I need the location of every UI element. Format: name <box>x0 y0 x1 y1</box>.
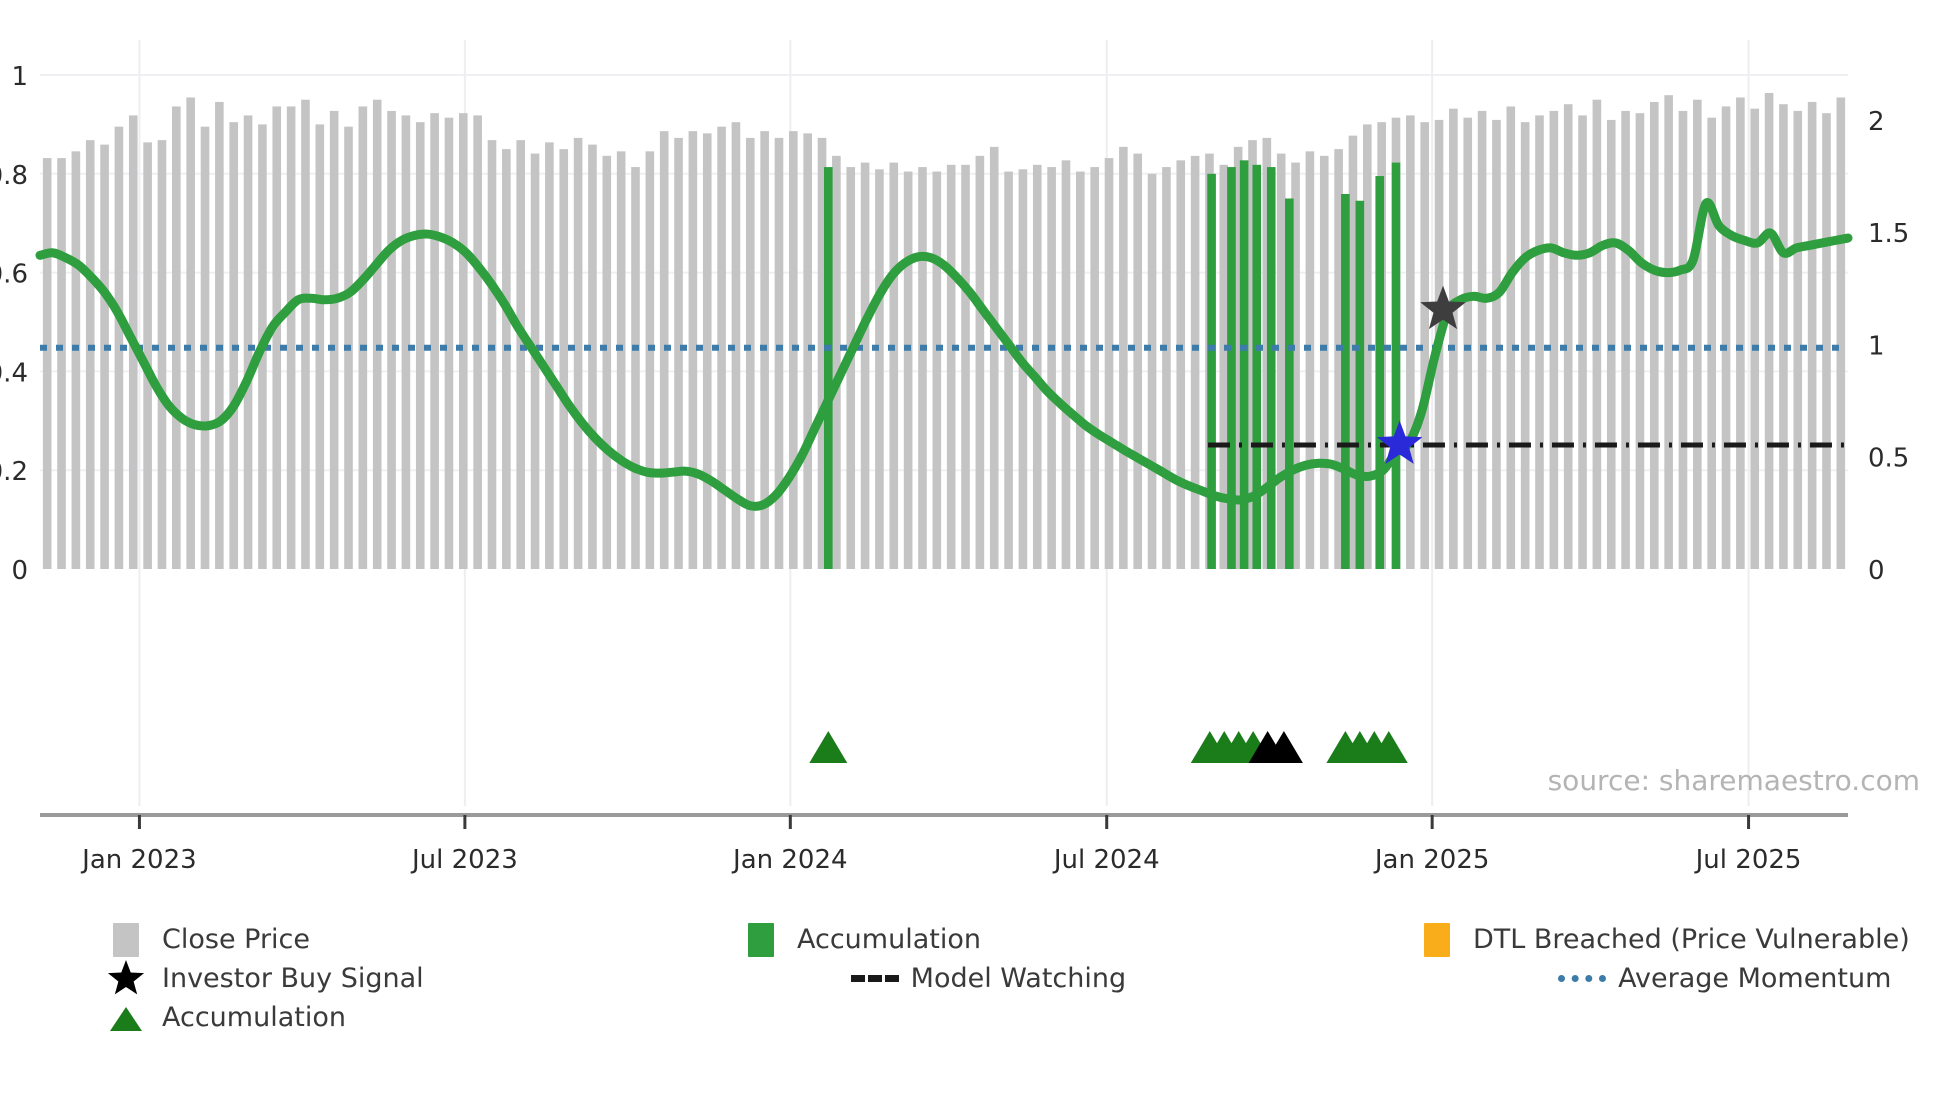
close-price-bar <box>330 111 339 569</box>
close-price-bar <box>775 138 784 569</box>
close-price-bar <box>1736 97 1745 569</box>
close-price-bar <box>1808 102 1817 569</box>
close-price-bar <box>1191 156 1200 569</box>
close-price-bar <box>961 165 970 569</box>
close-price-bar <box>86 140 95 569</box>
legend-item-average-momentum[interactable]: Average Momentum <box>1556 959 1891 998</box>
close-price-bar <box>1062 160 1071 569</box>
accumulation-bar <box>1240 160 1249 569</box>
close-price-bar <box>1105 158 1114 569</box>
close-price-bar <box>43 158 52 569</box>
close-price-label: Close Price <box>162 924 310 955</box>
accumulation-triangle-swatch <box>100 1000 152 1036</box>
model-watching-label: Model Watching <box>911 963 1126 994</box>
close-price-bar <box>889 163 898 569</box>
close-price-bar <box>545 142 554 569</box>
close-price-bar <box>1650 102 1659 569</box>
accumulation-bar <box>1227 167 1236 569</box>
close-price-bar <box>445 118 454 569</box>
accumulation-bar <box>1356 201 1365 569</box>
y-axis-left-tick-label: 0.2 <box>0 457 28 487</box>
close-price-bar <box>1822 113 1831 569</box>
close-price-bar <box>1148 174 1157 569</box>
accumulation-bar <box>824 167 833 569</box>
y-axis-right-tick-label: 1.5 <box>1868 219 1909 249</box>
close-price-bar <box>516 140 525 569</box>
close-price-bar <box>1750 109 1759 569</box>
x-axis-tick-label: Jul 2025 <box>1694 845 1802 875</box>
accumulation-triangle-triangle-icon <box>106 1000 146 1036</box>
close-price-bar <box>1707 118 1716 569</box>
close-price-bar <box>158 140 167 569</box>
close-price-bar <box>57 158 66 569</box>
legend-row: Accumulation <box>100 998 1900 1037</box>
close-price-bar <box>1406 115 1415 569</box>
close-price-bar <box>1306 151 1315 569</box>
close-price-bar <box>1550 111 1559 569</box>
close-price-bar <box>631 167 640 569</box>
close-price-swatch-icon <box>113 923 139 957</box>
close-price-bar <box>574 138 583 569</box>
close-price-bar <box>502 149 511 569</box>
close-price-bar <box>1277 154 1286 569</box>
close-price-bar <box>1722 106 1731 569</box>
investor-buy-signal-star-icon <box>106 959 146 999</box>
close-price-bar <box>215 102 224 569</box>
close-price-bar <box>1463 118 1472 569</box>
close-price-bar <box>689 131 698 569</box>
close-price-bar <box>602 156 611 569</box>
close-price-bar <box>703 133 712 569</box>
source-attribution: source: sharemaestro.com <box>1548 764 1920 797</box>
close-price-bar <box>1506 106 1515 569</box>
legend-item-dtl-breached[interactable]: DTL Breached (Price Vulnerable) <box>1411 920 1910 959</box>
y-axis-right-tick-label: 0 <box>1868 556 1885 586</box>
close-price-bar <box>1033 165 1042 569</box>
y-axis-left-tick-label: 0 <box>11 556 28 586</box>
close-price-bar <box>918 167 927 569</box>
accumulation-bar-swatch-icon <box>748 923 774 957</box>
close-price-bar <box>1090 167 1099 569</box>
close-price-bar <box>1593 100 1602 569</box>
x-axis-tick-label: Jan 2024 <box>731 845 848 875</box>
close-price-bar <box>1607 120 1616 569</box>
legend-item-investor-buy-signal[interactable]: Investor Buy Signal <box>100 959 424 998</box>
accumulation-bar-label: Accumulation <box>797 924 981 955</box>
close-price-bar <box>1564 104 1573 569</box>
dtl-breached-swatch <box>1411 923 1463 957</box>
model-watching-dash-icon <box>851 975 899 982</box>
close-price-swatch <box>100 923 152 957</box>
chart-legend: Close PriceAccumulationDTL Breached (Pri… <box>100 920 1900 1037</box>
legend-row: Investor Buy SignalModel WatchingAverage… <box>100 959 1900 998</box>
legend-item-model-watching[interactable]: Model Watching <box>849 959 1126 998</box>
accumulation-bar <box>1267 167 1276 569</box>
close-price-bar <box>1837 97 1846 569</box>
close-price-bar <box>1535 115 1544 569</box>
close-price-bar <box>301 100 310 569</box>
close-price-bar <box>1320 156 1329 569</box>
accumulation-bar-swatch <box>735 923 787 957</box>
average-momentum-label: Average Momentum <box>1618 963 1891 994</box>
close-price-bar <box>1047 167 1056 569</box>
close-price-bar <box>588 145 597 569</box>
accumulation-bar <box>1375 176 1384 569</box>
y-axis-right-tick-label: 1 <box>1868 331 1885 361</box>
close-price-bar <box>172 106 181 569</box>
accumulation-bar <box>1252 165 1261 569</box>
accumulation-triangle-label: Accumulation <box>162 1002 346 1033</box>
investor-buy-signal-label: Investor Buy Signal <box>162 963 424 994</box>
close-price-bar <box>1220 165 1229 569</box>
x-axis-tick-label: Jul 2024 <box>1052 845 1160 875</box>
accumulation-bar <box>1392 163 1401 569</box>
close-price-bar <box>1664 95 1673 569</box>
close-price-bar <box>1793 111 1802 569</box>
chart-root: Jan 2023Jul 2023Jan 2024Jul 2024Jan 2025… <box>0 0 1960 1102</box>
close-price-bar <box>933 172 942 569</box>
close-price-bar <box>100 145 109 569</box>
legend-row: Close PriceAccumulationDTL Breached (Pri… <box>100 920 1900 959</box>
model-watching-swatch <box>849 975 901 982</box>
y-axis-left-tick-label: 1 <box>11 62 28 92</box>
close-price-bar <box>459 113 468 569</box>
accumulation-triangle-row <box>809 731 1407 763</box>
momentum-signal-line <box>40 203 1848 507</box>
close-price-bar <box>473 115 482 569</box>
close-price-bar <box>1779 104 1788 569</box>
legend-item-accumulation-bar[interactable]: Accumulation <box>735 920 981 959</box>
close-price-bar <box>947 165 956 569</box>
close-price-bar <box>990 147 999 569</box>
close-price-bar <box>832 156 841 569</box>
close-price-bar <box>976 156 985 569</box>
close-price-bar <box>861 163 870 569</box>
close-price-bar <box>1492 120 1501 569</box>
close-price-bar <box>287 106 296 569</box>
close-price-bar <box>1449 109 1458 569</box>
average-momentum-dotted-icon <box>1558 975 1606 982</box>
close-price-bar <box>1176 160 1185 569</box>
y-axis-left-tick-label: 0.4 <box>0 358 28 388</box>
accumulation-triangle <box>809 731 847 763</box>
close-price-bar <box>430 113 439 569</box>
close-price-bar <box>387 111 396 569</box>
dtl-breached-label: DTL Breached (Price Vulnerable) <box>1473 924 1910 955</box>
average-momentum-swatch <box>1556 975 1608 982</box>
dtl-breached-swatch-icon <box>1424 923 1450 957</box>
close-price-bar <box>674 138 683 569</box>
close-price-bar <box>359 106 368 569</box>
y-axis-left-tick-label: 0.8 <box>0 161 28 191</box>
legend-item-close-price[interactable]: Close Price <box>100 920 310 959</box>
close-price-bar <box>646 151 655 569</box>
y-axis-right-tick-label: 0.5 <box>1868 444 1909 474</box>
close-price-bar <box>559 149 568 569</box>
close-price-bar <box>1636 113 1645 569</box>
accumulation-bar <box>1341 194 1350 569</box>
close-price-bar <box>1578 115 1587 569</box>
legend-item-accumulation-triangle[interactable]: Accumulation <box>100 998 346 1037</box>
close-price-bar <box>416 122 425 569</box>
close-price-bar <box>373 100 382 569</box>
x-axis-tick-label: Jan 2025 <box>1373 845 1490 875</box>
close-price-bar <box>244 115 253 569</box>
close-price-bar <box>1133 154 1142 569</box>
close-price-bar <box>1119 147 1128 569</box>
close-price-bar <box>186 97 195 569</box>
close-price-bar <box>1004 172 1013 569</box>
close-price-bar <box>904 172 913 569</box>
close-price-bar <box>1679 111 1688 569</box>
close-price-bar <box>402 115 411 569</box>
x-axis-tick-label: Jul 2023 <box>410 845 518 875</box>
close-price-bar <box>272 106 281 569</box>
y-axis-right-tick-label: 2 <box>1868 107 1885 137</box>
close-price-bar <box>875 169 884 569</box>
close-price-bar <box>72 151 81 569</box>
investor-buy-signal-swatch <box>100 959 152 999</box>
close-price-bar <box>803 133 812 569</box>
close-price-bar <box>488 140 497 569</box>
close-price-bar <box>1162 167 1171 569</box>
accumulation-bar <box>1207 174 1216 569</box>
close-price-bar <box>1478 111 1487 569</box>
close-price-bar <box>617 151 626 569</box>
close-price-bar <box>1765 93 1774 569</box>
close-price-bar <box>1621 111 1630 569</box>
close-price-bar <box>1693 100 1702 569</box>
x-axis-tick-label: Jan 2023 <box>80 845 197 875</box>
y-axis-left-tick-label: 0.6 <box>0 260 28 290</box>
close-price-bars <box>43 93 1845 569</box>
close-price-bar <box>1076 172 1085 569</box>
accumulation-bar <box>1285 199 1294 570</box>
